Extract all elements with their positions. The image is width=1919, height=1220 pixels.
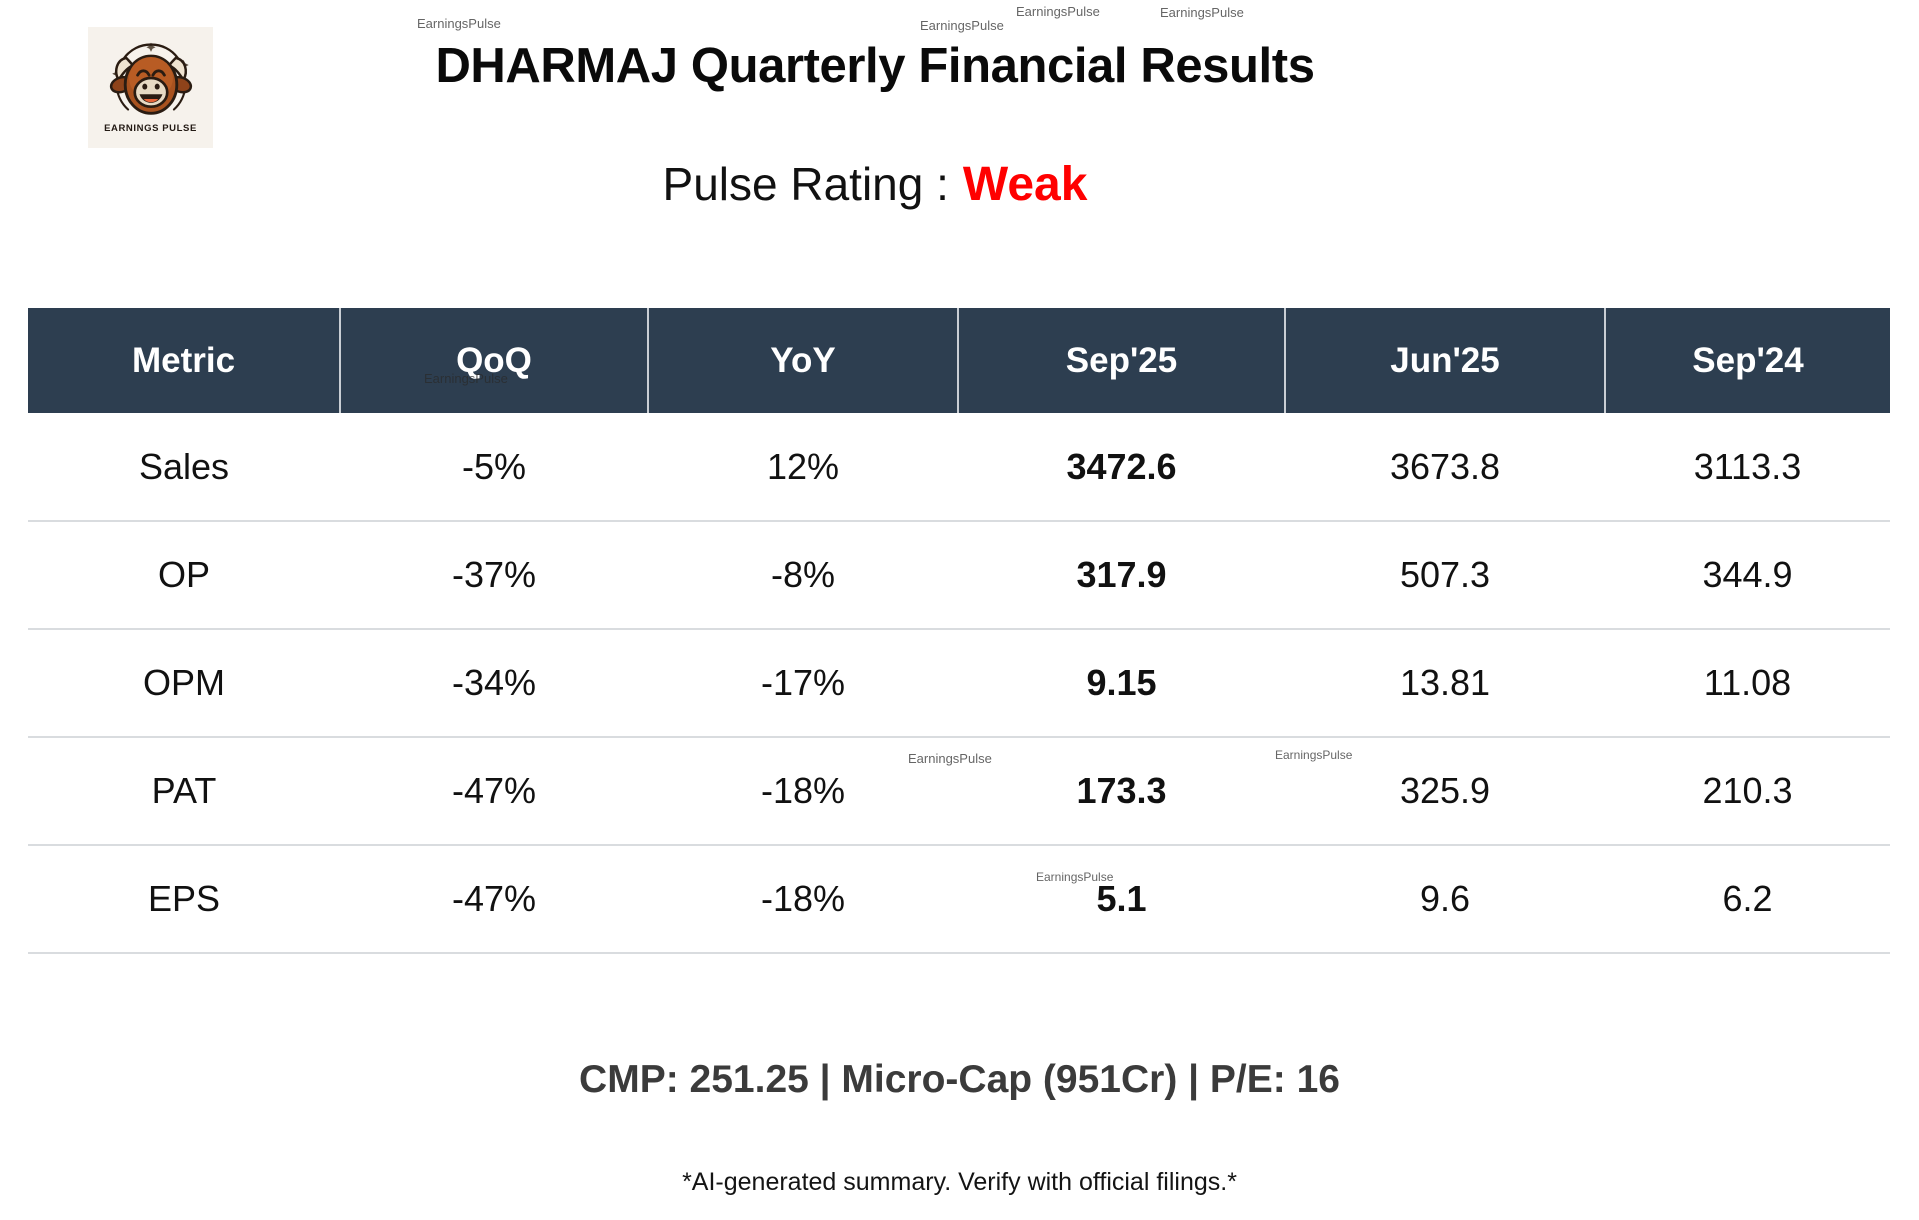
- table-row: EPS-47%-18%5.19.66.2: [28, 845, 1890, 953]
- watermark-label: EarningsPulse: [417, 16, 501, 31]
- cell-jun25: 9.6: [1285, 845, 1605, 953]
- cell-sep24: 3113.3: [1605, 413, 1890, 521]
- column-header-jun25[interactable]: Jun'25: [1285, 308, 1605, 413]
- cell-qoq: -34%: [340, 629, 648, 737]
- cell-qoq: -47%: [340, 737, 648, 845]
- cell-yoy: -18%: [648, 737, 958, 845]
- column-header-yoy[interactable]: YoY: [648, 308, 958, 413]
- cell-metric: OPM: [28, 629, 340, 737]
- table-body: Sales-5%12%3472.63673.83113.3OP-37%-8%31…: [28, 413, 1890, 953]
- cell-yoy: -18%: [648, 845, 958, 953]
- column-header-sep24[interactable]: Sep'24: [1605, 308, 1890, 413]
- pulse-rating-value: Weak: [963, 158, 1088, 211]
- table-row: OP-37%-8%317.9507.3344.9: [28, 521, 1890, 629]
- cell-sep24: 11.08: [1605, 629, 1890, 737]
- cell-metric: Sales: [28, 413, 340, 521]
- table-row: Sales-5%12%3472.63673.83113.3: [28, 413, 1890, 521]
- watermark-label: EarningsPulse: [1016, 4, 1100, 19]
- cmp-valuation-line: CMP: 251.25 | Micro-Cap (951Cr) | P/E: 1…: [0, 1058, 1919, 1102]
- ai-disclaimer: *AI-generated summary. Verify with offic…: [0, 1168, 1919, 1197]
- poster-canvas: EARNINGS PULSE DHARMAJ Quarterly Financi…: [0, 0, 1919, 1220]
- financial-results-table: Metric QoQ YoY Sep'25 Jun'25 Sep'24 Sale…: [28, 308, 1890, 954]
- cell-sep25: 5.1: [958, 845, 1285, 953]
- cell-jun25: 3673.8: [1285, 413, 1605, 521]
- column-header-sep25[interactable]: Sep'25: [958, 308, 1285, 413]
- column-header-qoq[interactable]: QoQ: [340, 308, 648, 413]
- cell-sep24: 210.3: [1605, 737, 1890, 845]
- cell-metric: EPS: [28, 845, 340, 953]
- cell-jun25: 13.81: [1285, 629, 1605, 737]
- table-row: OPM-34%-17%9.1513.8111.08: [28, 629, 1890, 737]
- logo-caption: EARNINGS PULSE: [104, 123, 197, 134]
- watermark-label: EarningsPulse: [920, 18, 1004, 33]
- cell-yoy: -8%: [648, 521, 958, 629]
- table-header: Metric QoQ YoY Sep'25 Jun'25 Sep'24: [28, 308, 1890, 413]
- cell-yoy: 12%: [648, 413, 958, 521]
- cell-sep24: 344.9: [1605, 521, 1890, 629]
- cell-qoq: -5%: [340, 413, 648, 521]
- cell-metric: PAT: [28, 737, 340, 845]
- cell-sep25: 9.15: [958, 629, 1285, 737]
- cell-jun25: 325.9: [1285, 737, 1605, 845]
- pulse-rating-line: Pulse Rating :Weak: [0, 157, 1750, 212]
- cell-sep25: 317.9: [958, 521, 1285, 629]
- cell-qoq: -47%: [340, 845, 648, 953]
- cell-qoq: -37%: [340, 521, 648, 629]
- cell-jun25: 507.3: [1285, 521, 1605, 629]
- cell-sep24: 6.2: [1605, 845, 1890, 953]
- table-header-row: Metric QoQ YoY Sep'25 Jun'25 Sep'24: [28, 308, 1890, 413]
- column-header-metric[interactable]: Metric: [28, 308, 340, 413]
- page-title: DHARMAJ Quarterly Financial Results: [0, 38, 1750, 94]
- pulse-rating-label: Pulse Rating :: [663, 158, 949, 210]
- watermark-label: EarningsPulse: [1160, 5, 1244, 20]
- cell-sep25: 3472.6: [958, 413, 1285, 521]
- cell-yoy: -17%: [648, 629, 958, 737]
- financial-results-table-wrapper: Metric QoQ YoY Sep'25 Jun'25 Sep'24 Sale…: [28, 308, 1890, 954]
- cell-metric: OP: [28, 521, 340, 629]
- cell-sep25: 173.3: [958, 737, 1285, 845]
- table-row: PAT-47%-18%173.3325.9210.3: [28, 737, 1890, 845]
